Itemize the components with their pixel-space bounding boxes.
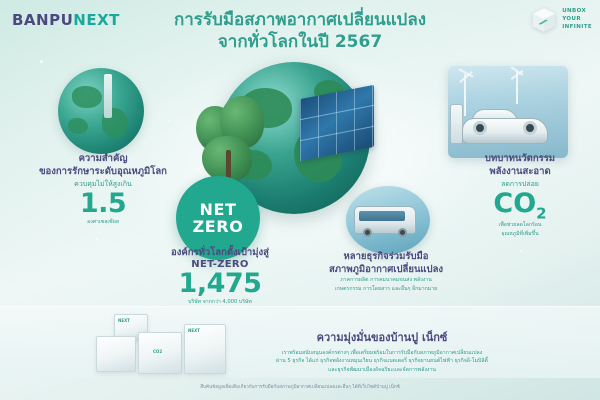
logo-banpu-text: BANPU: [12, 11, 73, 29]
tagline-line-2: YOUR: [562, 16, 592, 24]
sparkle-decor: [168, 120, 170, 122]
co2-symbol: CO: [493, 188, 536, 219]
temperature-stat-block: ความสำคัญ ของการรักษาระดับอุณหภูมิโลก คว…: [8, 152, 198, 227]
netzero-companies-stat-block: องค์กรทั่วโลกตั้งเป้ามุ่งสู่ NET-ZERO 1,…: [140, 246, 300, 307]
sparkle-decor: [520, 250, 522, 252]
banpu-next-logo: BANPUNEXT: [12, 11, 120, 29]
logo-next-text: NEXT: [73, 11, 120, 29]
badge-line-1: NET: [199, 201, 236, 218]
co2-value: CO2: [440, 190, 600, 221]
cube-icon: [530, 6, 558, 34]
sparkle-decor: [96, 238, 98, 240]
right-stat-note-1: เพื่อช่วยลดโลกร้อน: [440, 222, 600, 230]
electric-bus-image: [346, 186, 430, 254]
left-stat-unit: องศาเซลเซียส: [8, 219, 198, 227]
commitment-line-1: เราพร้อมสนับสนุนองค์กรต่างๆ เพื่อเตรียมพ…: [232, 349, 532, 357]
infographic-canvas: BANPUNEXT การรับมือสภาพอากาศเปลี่ยนแปลง …: [0, 0, 600, 400]
product-box: [96, 336, 136, 372]
commitment-block: ความมุ่งมั่นของบ้านปู เน็กซ์ เราพร้อมสนั…: [232, 328, 532, 374]
co2-innovation-block: บทบาทนวัตกรรม พลังงานสะอาด ลดการปล่อย CO…: [440, 152, 600, 238]
product-label-1: NEXT: [118, 318, 130, 323]
left-stat-head-2: ของการรักษาระดับอุณหภูมิโลก: [8, 165, 198, 178]
sparkle-decor: [40, 60, 43, 63]
business-head-1: หลายธุรกิจร่วมรับมือ: [300, 250, 472, 263]
commitment-line-3: และธุรกิจพัฒนาเมืองอัจฉริยะและจัดการพลัง…: [232, 366, 532, 374]
title-line-2: จากทั่วโลกในปี 2567: [140, 32, 460, 54]
center-stat-head: องค์กรทั่วโลกตั้งเป้ามุ่งสู่: [140, 246, 300, 259]
unbox-tagline: UNBOX YOUR INFINITE: [562, 8, 592, 32]
business-sectors-block: หลายธุรกิจร่วมรับมือ สภาพภูมิอากาศเปลี่ย…: [300, 250, 472, 293]
title-line-1: การรับมือสภาพอากาศเปลี่ยนแปลง: [140, 10, 460, 32]
tagline-line-3: INFINITE: [562, 24, 592, 32]
right-stat-note-2: อุณหภูมิที่เพิ่มขึ้น: [440, 231, 600, 239]
business-head-2: สภาพภูมิอากาศเปลี่ยนแปลง: [300, 263, 472, 276]
page-title: การรับมือสภาพอากาศเปลี่ยนแปลง จากทั่วโลก…: [140, 10, 460, 54]
co2-subscript: 2: [536, 204, 546, 222]
business-detail-1: ภาคการผลิต การคมนาคมขนส่ง พลังงาน: [300, 277, 472, 285]
left-stat-head-1: ความสำคัญ: [8, 152, 198, 165]
globe-small-image: [58, 68, 144, 154]
business-detail-2: เกษตรกรรม การโดยสาร และอื่นๆ อีกมากมาย: [300, 286, 472, 294]
product-boxes-image: NEXT CO2 NEXT: [96, 314, 228, 376]
product-box: NEXT: [184, 324, 226, 374]
commitment-line-2: ผ่าน 5 ธุรกิจ ได้แก่ ธุรกิจพลังงานหมุนเว…: [232, 357, 532, 365]
right-stat-head-1: บทบาทนวัตกรรม: [440, 152, 600, 165]
tagline-line-1: UNBOX: [562, 8, 592, 16]
center-stat-value: 1,475: [140, 270, 300, 298]
badge-line-2: ZERO: [193, 218, 244, 235]
left-stat-value: 1.5: [8, 190, 198, 218]
product-label-3: NEXT: [188, 328, 200, 333]
footer-note: สืบค้นข้อมูลเพิ่มเติมเกี่ยวกับการรับมือก…: [0, 385, 600, 392]
ev-car-charging-image: [448, 66, 568, 158]
right-stat-head-2: พลังงานสะอาด: [440, 165, 600, 178]
commitment-heading: ความมุ่งมั่นของบ้านปู เน็กซ์: [232, 328, 532, 346]
product-label-2: CO2: [153, 349, 162, 354]
unbox-your-infinite-logo: UNBOX YOUR INFINITE: [530, 6, 592, 34]
product-box: CO2: [138, 332, 182, 374]
